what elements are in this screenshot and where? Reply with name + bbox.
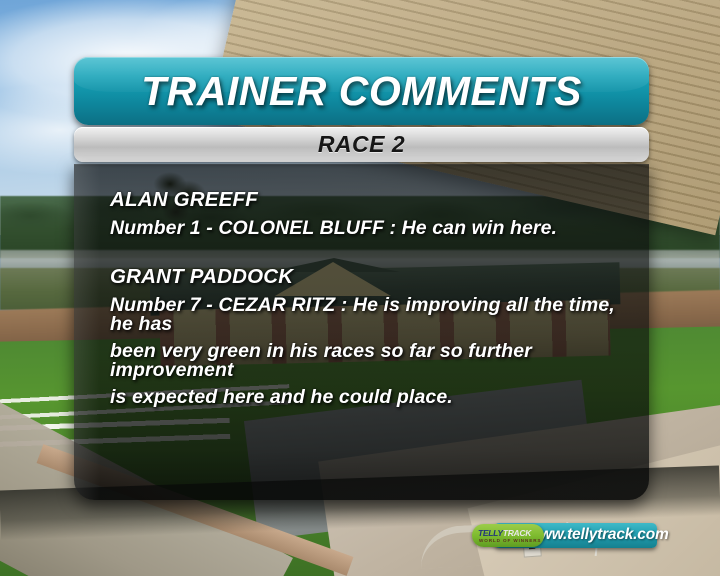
screenshot-root: 2 TRAINER COMMENTS RACE 2 ALAN GREEFF Nu… (0, 0, 720, 576)
comment-line: been very green in his races so far so f… (110, 342, 625, 381)
comment-line: Number 1 - COLONEL BLUFF : He can win he… (110, 219, 625, 239)
tellytrack-logo: TELLYTRACK WORLD OF WINNERS (472, 524, 544, 547)
logo-tagline: WORLD OF WINNERS (479, 538, 537, 543)
tellytrack-branding: www.tellytrack.com TELLYTRACK WORLD OF W… (472, 522, 657, 550)
comment-block: ALAN GREEFF Number 1 - COLONEL BLUFF : H… (110, 190, 625, 238)
comment-line: Number 7 - CEZAR RITZ : He is improving … (110, 296, 625, 335)
comment-line: is expected here and he could place. (110, 388, 625, 408)
comment-text: Number 7 - CEZAR RITZ : He is improving … (110, 296, 625, 408)
website-url[interactable]: www.tellytrack.com (528, 526, 669, 544)
trainer-name: GRANT PADDOCK (110, 267, 625, 288)
race-label: RACE 2 (318, 131, 405, 158)
panel-title-bar: TRAINER COMMENTS (74, 57, 649, 125)
trainer-comments-panel: TRAINER COMMENTS RACE 2 ALAN GREEFF Numb… (74, 57, 649, 502)
panel-subtitle-bar: RACE 2 (74, 127, 649, 162)
trainer-name: ALAN GREEFF (110, 190, 625, 211)
comment-text: Number 1 - COLONEL BLUFF : He can win he… (110, 219, 625, 239)
page-title: TRAINER COMMENTS (141, 68, 582, 115)
logo-wordmark: TELLYTRACK (478, 528, 538, 538)
logo-word-part-2: TRACK (503, 528, 531, 538)
comments-body: ALAN GREEFF Number 1 - COLONEL BLUFF : H… (74, 164, 649, 500)
block-spacer (110, 238, 625, 267)
logo-word-part-1: TELLY (478, 528, 503, 538)
comment-block: GRANT PADDOCK Number 7 - CEZAR RITZ : He… (110, 267, 625, 407)
